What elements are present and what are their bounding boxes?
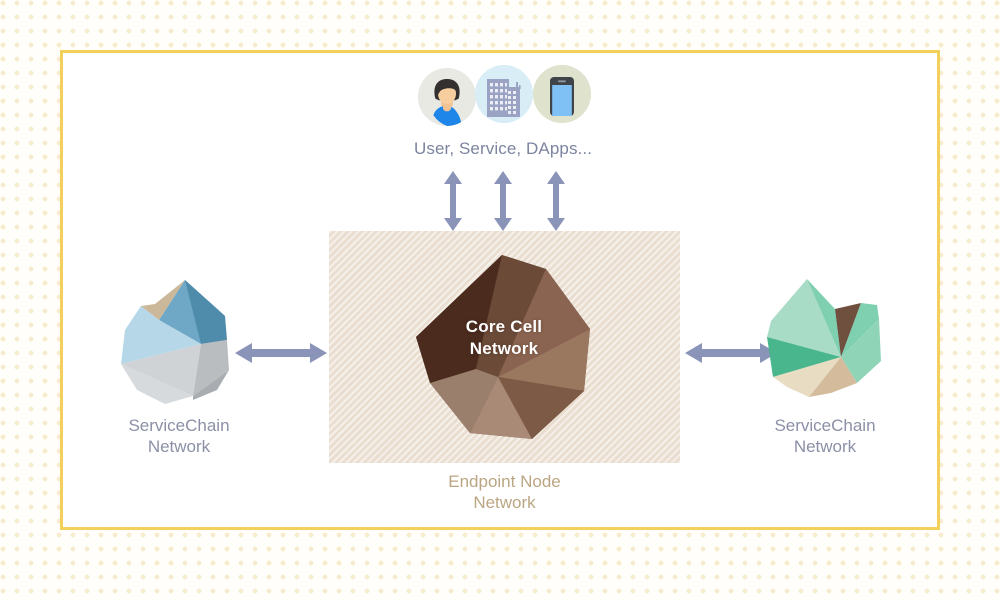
diagram-frame: User, Service, DApps...: [60, 50, 940, 530]
vertical-arrow-2: [492, 171, 514, 231]
vertical-arrow-3: [545, 171, 567, 231]
horizontal-arrow-left: [235, 340, 327, 366]
servicechain-right-label: ServiceChain Network: [715, 415, 935, 457]
horizontal-arrow-right: [685, 340, 777, 366]
endpoint-label-line2: Network: [329, 492, 680, 513]
servicechain-left-label-line1: ServiceChain: [69, 415, 289, 436]
servicechain-right-label-line1: ServiceChain: [715, 415, 935, 436]
servicechain-right-polygon: [765, 275, 885, 405]
office-building-icon: [475, 65, 533, 123]
diagram-stage: User, Service, DApps...: [63, 53, 937, 527]
mobile-phone-icon: [533, 65, 591, 123]
user-avatar-icon: [418, 68, 476, 126]
vertical-arrow-1: [442, 171, 464, 231]
servicechain-right-label-line2: Network: [715, 436, 935, 457]
servicechain-left-label: ServiceChain Network: [69, 415, 289, 457]
endpoint-node-network-label: Endpoint Node Network: [329, 471, 680, 513]
servicechain-left-label-line2: Network: [69, 436, 289, 457]
core-cell-network-polygon: [414, 251, 594, 443]
servicechain-left-polygon: [119, 278, 239, 408]
endpoint-label-line1: Endpoint Node: [329, 471, 680, 492]
top-cluster-label: User, Service, DApps...: [333, 139, 673, 159]
